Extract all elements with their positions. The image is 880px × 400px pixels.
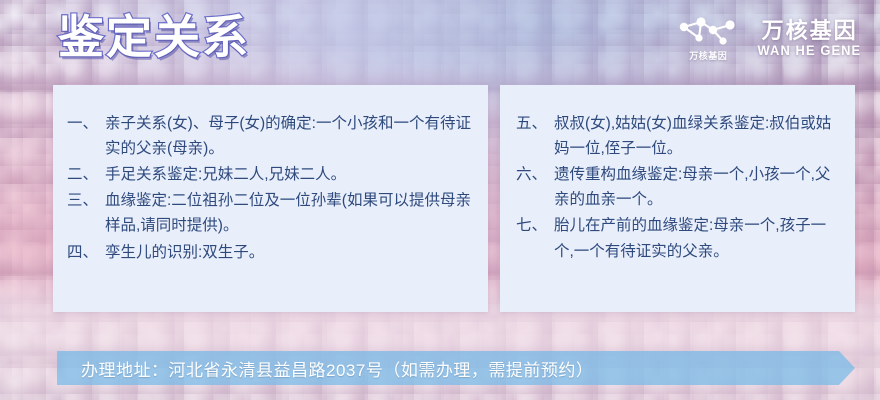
list-item: 四、 孪生儿的识别:双生子。 <box>67 240 476 265</box>
list-item-number: 一、 <box>67 111 105 136</box>
brand-mark-label: 万核基因 <box>689 49 727 62</box>
list-item-number: 四、 <box>67 240 105 265</box>
panel-left-body: 一、 亲子关系(女)、母子(女)的确定:一个小孩和一个有待证实的父亲(母亲)。 … <box>53 85 488 265</box>
list-item-number: 六、 <box>516 162 554 187</box>
list-item-text: 血缘鉴定:二位祖孙二位及一位孙辈(如果可以提供母亲样品,请同时提供)。 <box>105 188 476 238</box>
list-item: 三、 血缘鉴定:二位祖孙二位及一位孙辈(如果可以提供母亲样品,请同时提供)。 <box>67 188 476 238</box>
address-bar: 办理地址：河北省永清县益昌路2037号（如需办理，需提前预约） <box>57 351 855 385</box>
list-item-text: 胎儿在产前的血缘鉴定:母亲一个,孩子一个,一个有待证实的父亲。 <box>554 213 845 263</box>
list-item: 五、 叔叔(女),姑姑(女)血绿关系鉴定:叔伯或姑妈一位,侄子一位。 <box>516 111 845 161</box>
list-item-number: 七、 <box>516 213 554 238</box>
list-item: 六、 遗传重构血缘鉴定:母亲一个,小孩一个,父亲的血亲一个。 <box>516 162 845 212</box>
panel-right-body: 五、 叔叔(女),姑姑(女)血绿关系鉴定:叔伯或姑妈一位,侄子一位。 六、 遗传… <box>500 85 855 264</box>
list-item: 二、 手足关系鉴定:兄妹二人,兄妹二人。 <box>67 162 476 187</box>
list-item: 七、 胎儿在产前的血缘鉴定:母亲一个,孩子一个,一个有待证实的父亲。 <box>516 213 845 263</box>
list-item: 一、 亲子关系(女)、母子(女)的确定:一个小孩和一个有待证实的父亲(母亲)。 <box>67 111 476 161</box>
brand-logo: 万核基因 万核基因 WAN HE GENE <box>675 14 866 62</box>
list-item-text: 手足关系鉴定:兄妹二人,兄妹二人。 <box>105 162 476 187</box>
list-item-text: 亲子关系(女)、母子(女)的确定:一个小孩和一个有待证实的父亲(母亲)。 <box>105 111 476 161</box>
brand-mark: 万核基因 <box>675 14 741 62</box>
list-item-number: 二、 <box>67 162 105 187</box>
poster-root: 鉴定关系 <box>0 0 880 400</box>
list-item-text: 孪生儿的识别:双生子。 <box>105 240 476 265</box>
brand-name-en: WAN HE GENE <box>758 43 862 58</box>
list-item-number: 五、 <box>516 111 554 136</box>
panel-right: 五、 叔叔(女),姑姑(女)血绿关系鉴定:叔伯或姑妈一位,侄子一位。 六、 遗传… <box>500 85 855 312</box>
brand-wordmark: 万核基因 WAN HE GENE <box>753 19 866 58</box>
address-bar-text: 办理地址：河北省永清县益昌路2037号（如需办理，需提前预约） <box>57 356 593 381</box>
panel-left: 一、 亲子关系(女)、母子(女)的确定:一个小孩和一个有待证实的父亲(母亲)。 … <box>53 85 488 312</box>
content-panels: 一、 亲子关系(女)、母子(女)的确定:一个小孩和一个有待证实的父亲(母亲)。 … <box>53 85 855 312</box>
list-item-text: 叔叔(女),姑姑(女)血绿关系鉴定:叔伯或姑妈一位,侄子一位。 <box>554 111 845 161</box>
list-item-number: 三、 <box>67 188 105 213</box>
molecule-icon <box>675 14 741 48</box>
brand-name-cn: 万核基因 <box>762 19 858 42</box>
page-title: 鉴定关系 <box>58 12 250 63</box>
list-item-text: 遗传重构血缘鉴定:母亲一个,小孩一个,父亲的血亲一个。 <box>554 162 845 212</box>
